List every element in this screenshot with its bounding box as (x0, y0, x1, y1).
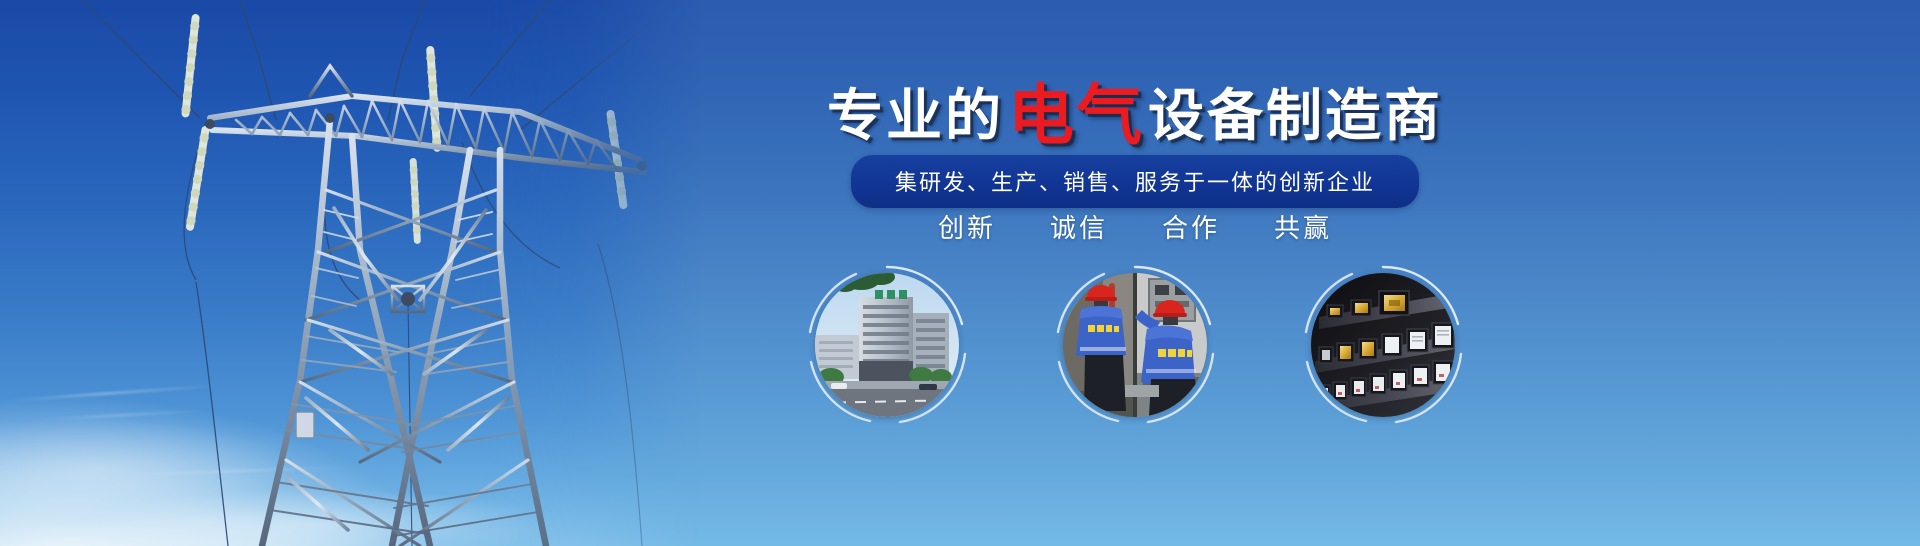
subtitle-pill: 集研发、生产、销售、服务于一体的创新企业 (851, 155, 1419, 208)
thumbnail-certificate-wall[interactable]: 荣誉证书与资质展示墙 (1300, 262, 1466, 428)
pylon-illustration (0, 0, 700, 546)
headline-highlight: 电气 (1008, 77, 1144, 155)
keyword-list: 创新 诚信 合作 共赢 (660, 208, 1610, 245)
photo-workers-electrical-cabinet (1063, 273, 1207, 417)
banner-content: 专业的电气设备制造商 集研发、生产、销售、服务于一体的创新企业 创新 诚信 合作… (660, 0, 1610, 546)
headline-part-2: 设备制造商 (1148, 84, 1443, 150)
thumbnail-workers[interactable]: 身穿蓝色工服、佩戴红色安全帽的工人在检修电气柜 (1052, 262, 1218, 428)
page-title: 专业的电气设备制造商 (660, 74, 1610, 152)
photo-certificate-wall (1311, 273, 1455, 417)
thumbnail-alt-text: 荣誉证书与资质展示墙 (1300, 262, 1301, 263)
headline-part-1: 专业的 (827, 84, 1004, 150)
transmission-tower-photo: 蓝天白云下的高压输电铁塔 (0, 0, 700, 546)
keyword-cooperation: 合作 (1162, 208, 1220, 245)
photo-office-building (815, 273, 959, 417)
hero-banner: 蓝天白云下的高压输电铁塔 (0, 0, 1920, 546)
thumbnail-office-building[interactable]: 公司办公大楼外景 (804, 262, 970, 428)
equipment-box (296, 412, 314, 438)
keyword-integrity: 诚信 (1050, 208, 1108, 245)
thumbnail-alt-text: 公司办公大楼外景 (804, 262, 805, 263)
subtitle-pill-container: 集研发、生产、销售、服务于一体的创新企业 (660, 155, 1610, 208)
thumbnail-alt-text: 身穿蓝色工服、佩戴红色安全帽的工人在检修电气柜 (1052, 262, 1053, 263)
photo-thumbnail-list: 公司办公大楼外景 (660, 262, 1610, 428)
keyword-win-win: 共赢 (1274, 208, 1332, 245)
keyword-innovation: 创新 (938, 208, 996, 245)
